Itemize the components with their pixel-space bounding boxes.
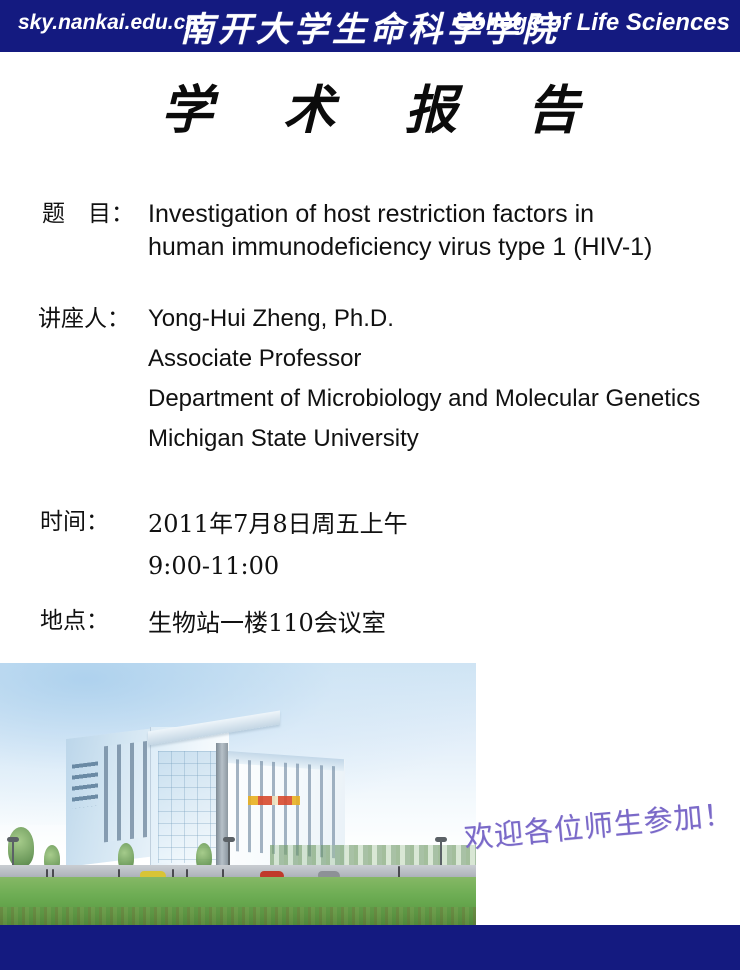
footer-banner [0, 925, 740, 970]
speaker-rank: Associate Professor [148, 343, 700, 375]
speaker-name: Yong-Hui Zheng, Ph.D. [148, 303, 394, 335]
speaker-institution: Michigan State University [148, 423, 700, 455]
time-label: 时间： [40, 506, 148, 538]
topic-line-2: human immunodeficiency virus type 1 (HIV… [148, 231, 652, 264]
speaker-label: 讲座人： [38, 303, 148, 335]
topic-row: 题 目： Investigation of host restriction f… [42, 198, 652, 264]
speaker-department: Department of Microbiology and Molecular… [148, 383, 700, 415]
page-title: 学 术 报 告 [0, 78, 740, 144]
building-banner-flag [248, 796, 300, 805]
time-hours-wrap: 9:00-11:00 [148, 548, 279, 584]
building-tower [216, 743, 228, 869]
welcome-note: 欢迎各位师生参加！ [462, 791, 735, 857]
time-hours: 9:00-11:00 [148, 548, 279, 584]
place-row: 地点： 生物站一楼110会议室 [40, 605, 386, 641]
speaker-row: 讲座人： Yong-Hui Zheng, Ph.D. [38, 303, 394, 335]
building-left-windows [72, 761, 98, 808]
seminar-poster: 南开大学生命科学学院 学 术 报 告 题 目： Investigation of… [0, 0, 740, 970]
topic-value: Investigation of host restriction factor… [148, 198, 652, 264]
speaker-details: Associate Professor Department of Microb… [148, 343, 700, 463]
place-label: 地点： [40, 605, 148, 637]
time-date: 2011年7月8日周五上午 [148, 506, 408, 542]
college-building-photo [0, 663, 476, 925]
topic-line-1: Investigation of host restriction factor… [148, 198, 652, 231]
footer-website[interactable]: sky.nankai.edu.cn [18, 11, 198, 35]
building-right-fins [236, 759, 342, 858]
place-value: 生物站一楼110会议室 [148, 605, 386, 641]
topic-label: 题 目： [42, 198, 148, 230]
footer-college-name: College of Life Sciences [454, 9, 730, 37]
building-atrium-glass [158, 751, 220, 863]
lawn-foreground-texture [0, 907, 476, 925]
time-row: 时间： 2011年7月8日周五上午 [40, 506, 408, 542]
